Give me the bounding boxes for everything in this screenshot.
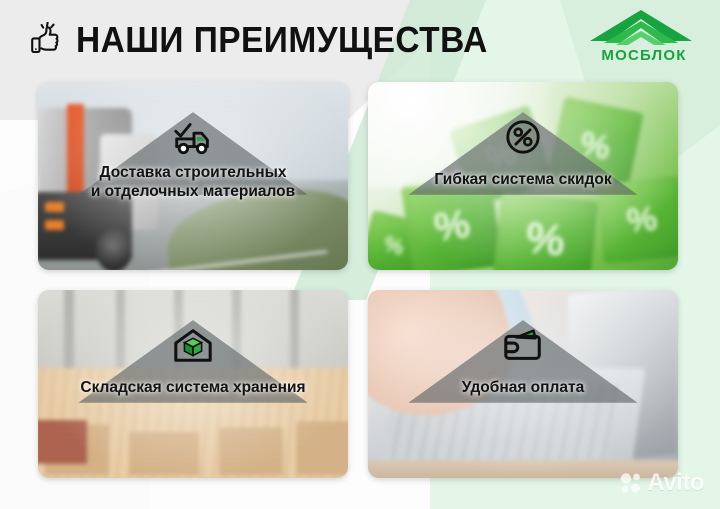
banner-header: НАШИ ПРЕИМУЩЕСТВА МОСБЛОК [0,0,720,78]
wallet-icon [500,324,546,366]
card-caption-payment: Удобная оплата [368,378,678,397]
advantage-card-delivery[interactable]: Доставка строительных и отделочных матер… [38,82,348,270]
card-caption-delivery: Доставка строительных и отделочных матер… [38,163,348,201]
advantage-card-discounts[interactable]: %% %% %% Гибкая система скидок [368,82,678,270]
page-title: НАШИ ПРЕИМУЩЕСТВА [76,19,488,61]
logo-roof-icon [586,8,696,46]
advantage-card-payment[interactable]: Удобная оплата [368,290,678,478]
card-caption-storage: Складская система хранения [38,378,348,397]
brand-logo: МОСБЛОК [586,8,702,70]
delivery-truck-icon [170,116,216,158]
advantage-card-storage[interactable]: Складская система хранения [38,290,348,478]
caption-line-2: и отделочных материалов [91,183,295,200]
advantages-grid: Доставка строительных и отделочных матер… [38,82,688,480]
logo-text: МОСБЛОК [586,47,702,64]
advertisement-banner: НАШИ ПРЕИМУЩЕСТВА МОСБЛОК [0,0,720,509]
avito-text: Avito [647,469,704,497]
warehouse-box-icon [170,324,216,366]
avito-watermark: Avito [620,469,704,497]
thumbs-up-icon [30,22,64,58]
percent-circle-icon [500,116,546,158]
avito-dots-icon [620,472,642,494]
card-caption-discounts: Гибкая система скидок [368,170,678,189]
caption-line-1: Доставка строительных [99,164,286,181]
